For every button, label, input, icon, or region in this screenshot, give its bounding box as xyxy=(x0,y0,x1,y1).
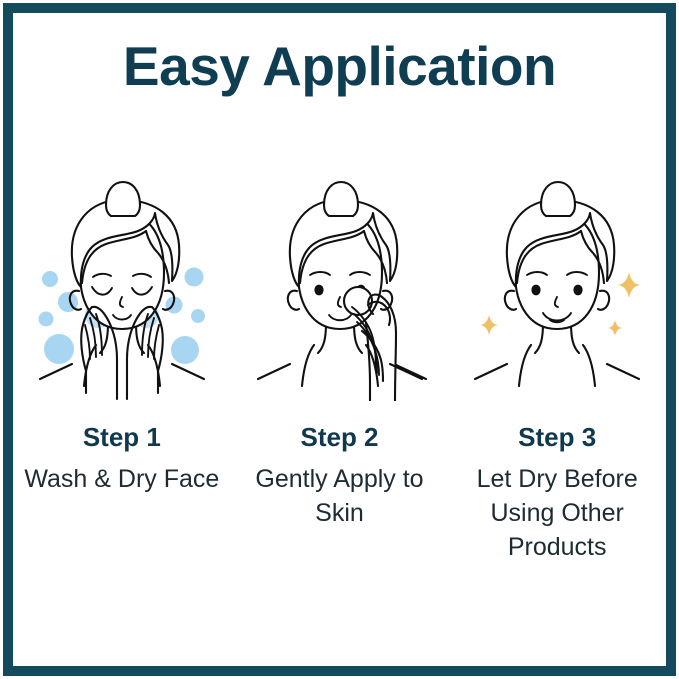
step-heading: Step 1 xyxy=(83,423,161,453)
decorative-border-frame: Easy Application xyxy=(3,3,676,676)
woman-smiling-with-sparkles-icon xyxy=(457,173,657,401)
step-heading: Step 3 xyxy=(518,423,596,453)
sparkle-icon xyxy=(607,320,623,336)
steps-row: Step 1 Wash & Dry Face xyxy=(13,173,666,564)
woman-washing-face-with-bubbles-icon xyxy=(22,173,222,401)
sparkle-icon xyxy=(479,315,499,335)
page-title: Easy Application xyxy=(13,39,666,94)
sparkle-icon xyxy=(616,272,642,298)
step-card-1: Step 1 Wash & Dry Face xyxy=(13,173,231,496)
step-description: Gently Apply to Skin xyxy=(237,462,442,530)
step-card-3: Step 3 Let Dry Before Using Other Produc… xyxy=(448,173,666,564)
step-description: Wash & Dry Face xyxy=(24,462,219,496)
infographic-root: Easy Application xyxy=(0,0,679,679)
step-card-2: Step 2 Gently Apply to Skin xyxy=(231,173,449,530)
step-heading: Step 2 xyxy=(300,423,378,453)
step-description: Let Dry Before Using Other Products xyxy=(455,462,660,564)
infographic-content: Easy Application xyxy=(13,13,666,666)
woman-applying-cotton-pad-icon xyxy=(240,173,440,401)
